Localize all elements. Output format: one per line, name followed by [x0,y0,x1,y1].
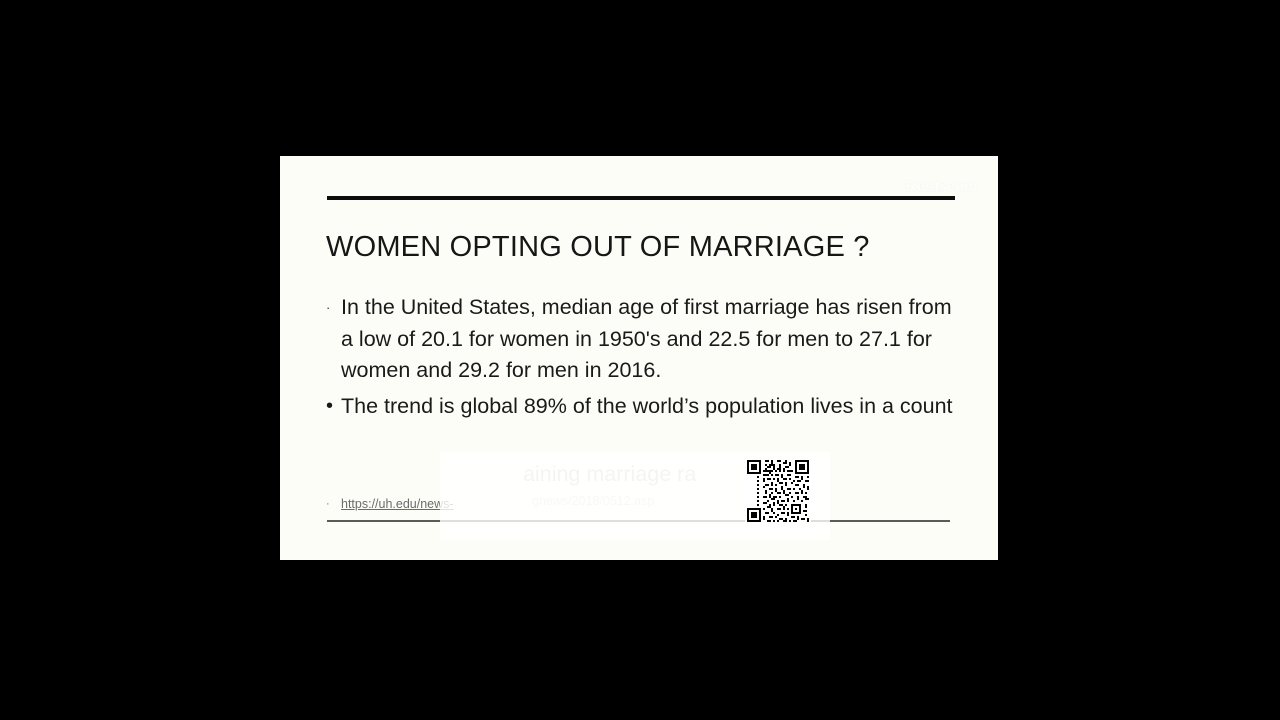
qr-code-icon[interactable] [745,458,811,524]
presentation-slide: Restream WOMEN OPTING OUT OF MARRIAGE ? … [280,156,998,560]
slide-body: · In the United States, median age of fi… [326,292,966,423]
video-letterbox-frame: Restream WOMEN OPTING OUT OF MARRIAGE ? … [0,0,1280,720]
bullet-marker-icon: · [326,292,341,324]
title-top-rule [327,196,955,200]
bullet-item-1: · In the United States, median age of fi… [326,292,966,387]
page-title: WOMEN OPTING OUT OF MARRIAGE ? [326,231,870,264]
bullet-item-1-text: In the United States, median age of firs… [341,292,966,387]
bullet-item-2: • The trend is global 89% of the world’s… [326,390,966,423]
bullet-item-2-text: The trend is global 89% of the world’s p… [341,390,966,423]
bullet-marker-icon: • [326,390,341,423]
source-url-link[interactable]: https://uh.edu/news- [341,495,454,513]
bullet-marker-icon: · [326,495,341,513]
restream-watermark: Restream [906,178,978,195]
